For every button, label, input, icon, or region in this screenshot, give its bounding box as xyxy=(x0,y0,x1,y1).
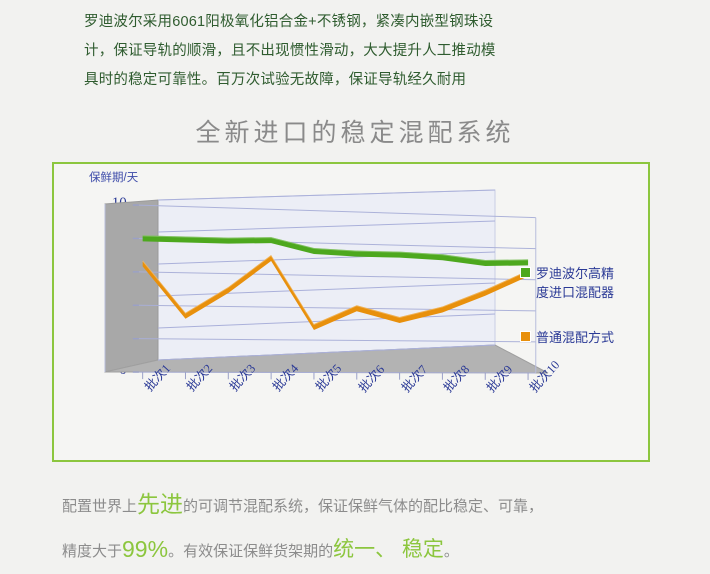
outro-l2-highlight2: 统一、 稳定 xyxy=(333,538,444,561)
intro-line-2: 计，保证导轨的顺滑，且不出现惯性滑动，大大提升人工推动模 xyxy=(84,37,644,66)
intro-paragraph: 罗迪波尔采用6061阳极氧化铝合金+不锈钢，紧凑内嵌型钢珠设 计，保证导轨的顺滑… xyxy=(84,8,644,95)
outro-l1-highlight: 先进 xyxy=(137,491,183,517)
legend-label-0-line1: 罗迪波尔高精 xyxy=(536,266,614,281)
outro-l2-b: 。有效保证保鲜货架期的 xyxy=(168,543,333,560)
legend-swatch-orange xyxy=(520,331,531,342)
legend-label-1: 普通混配方式 xyxy=(536,328,648,347)
outro-l1-a: 配置世界上 xyxy=(62,498,137,515)
intro-line-3: 具时的稳定可靠性。百万次试验无故障，保证导轨经久耐用 xyxy=(84,66,644,95)
legend-label-0: 罗迪波尔高精 度进口混配器 xyxy=(536,264,648,302)
legend-swatch-green xyxy=(520,267,531,278)
chart-container: 保鲜期/天 0246810 批次1批次2批次3批次4批次5批次6批次7批次8批次… xyxy=(54,164,648,460)
outro-l1-b: 的可调节混配系统，保证保鲜气体的配比稳定、可靠， xyxy=(183,498,543,515)
legend-label-0-line2: 度进口混配器 xyxy=(536,285,614,300)
section-heading: 全新进口的稳定混配系统 xyxy=(0,113,710,149)
page-root: 罗迪波尔采用6061阳极氧化铝合金+不锈钢，紧凑内嵌型钢珠设 计，保证导轨的顺滑… xyxy=(0,0,710,574)
legend-label-1-line1: 普通混配方式 xyxy=(536,330,614,345)
outro-line-2: 精度大于99%。有效保证保鲜货架期的统一、 稳定。 xyxy=(62,528,662,573)
intro-line-1: 罗迪波尔采用6061阳极氧化铝合金+不锈钢，紧凑内嵌型钢珠设 xyxy=(84,8,644,37)
chart-card: 保鲜期/天 0246810 批次1批次2批次3批次4批次5批次6批次7批次8批次… xyxy=(52,162,650,462)
chart-legend: 罗迪波尔高精 度进口混配器 普通混配方式 xyxy=(520,264,648,373)
legend-item-0: 罗迪波尔高精 度进口混配器 xyxy=(520,264,648,302)
outro-line-1: 配置世界上先进的可调节混配系统，保证保鲜气体的配比稳定、可靠， xyxy=(62,483,662,528)
outro-l2-a: 精度大于 xyxy=(62,543,122,560)
outro-l2-highlight: 99% xyxy=(122,536,168,562)
legend-item-1: 普通混配方式 xyxy=(520,328,648,347)
outro-l2-c: 。 xyxy=(444,543,459,560)
outro-paragraph: 配置世界上先进的可调节混配系统，保证保鲜气体的配比稳定、可靠， 精度大于99%。… xyxy=(62,483,662,573)
